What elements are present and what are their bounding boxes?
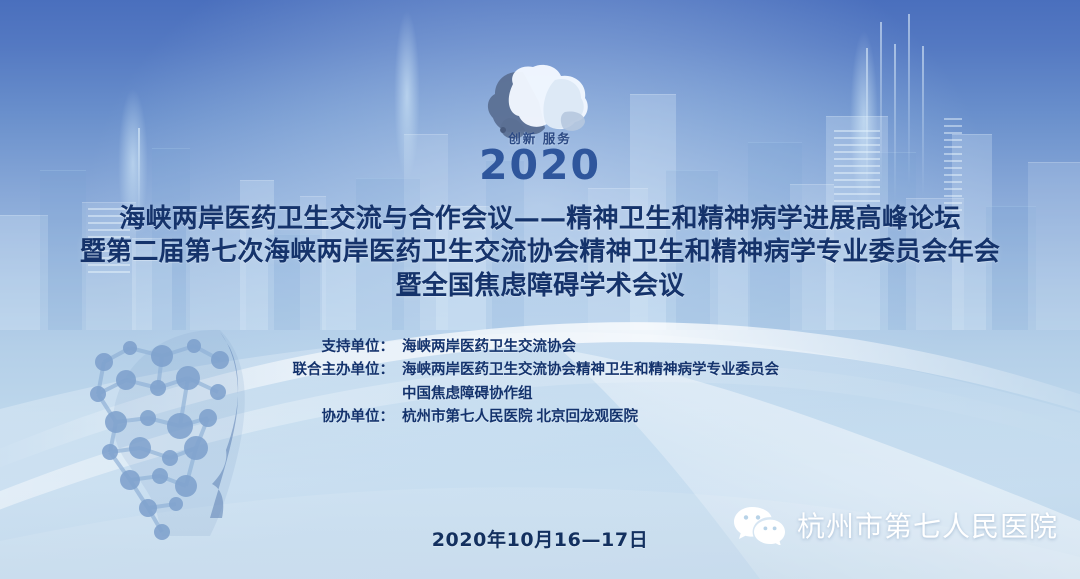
title-line-2: 暨第二届第七次海峡两岸医药卫生交流协会精神卫生和精神病学专业委员会年会 xyxy=(0,236,1080,269)
conference-logo: 创新 服务 2020 xyxy=(0,62,1080,197)
sponsor-label: 联合主办单位： xyxy=(270,359,394,382)
conference-title-block: 海峡两岸医药卫生交流与合作会议——精神卫生和精神病学进展高峰论坛 暨第二届第七次… xyxy=(0,203,1080,303)
wechat-badge[interactable]: 杭州市第七人民医院 xyxy=(733,505,1058,545)
sponsor-value: 海峡两岸医药卫生交流协会 xyxy=(394,336,576,359)
sponsor-label xyxy=(270,383,394,406)
wechat-account-name: 杭州市第七人民医院 xyxy=(797,505,1058,545)
sponsor-row: 中国焦虑障碍协作组 xyxy=(0,383,1080,406)
sponsor-value: 中国焦虑障碍协作组 xyxy=(394,383,533,406)
wechat-icon xyxy=(733,505,785,545)
sponsor-label: 协办单位： xyxy=(270,406,394,429)
conference-banner: 创新 服务 2020 海峡两岸医药卫生交流与合作会议——精神卫生和精神病学进展高… xyxy=(0,0,1080,579)
sponsor-row: 联合主办单位： 海峡两岸医药卫生交流协会精神卫生和精神病学专业委员会 xyxy=(0,359,1080,382)
sponsor-value: 杭州市第七人民医院 北京回龙观医院 xyxy=(394,406,638,429)
sponsor-row: 支持单位： 海峡两岸医药卫生交流协会 xyxy=(0,336,1080,359)
sponsor-label: 支持单位： xyxy=(270,336,394,359)
title-line-3: 暨全国焦虑障碍学术会议 xyxy=(0,270,1080,303)
sponsor-block: 支持单位： 海峡两岸医药卫生交流协会 联合主办单位： 海峡两岸医药卫生交流协会精… xyxy=(0,336,1080,430)
title-line-1: 海峡两岸医药卫生交流与合作会议——精神卫生和精神病学进展高峰论坛 xyxy=(0,203,1080,236)
sponsor-value: 海峡两岸医药卫生交流协会精神卫生和精神病学专业委员会 xyxy=(394,359,779,382)
logo-year: 2020 xyxy=(479,145,601,186)
sponsor-row: 协办单位： 杭州市第七人民医院 北京回龙观医院 xyxy=(0,406,1080,429)
